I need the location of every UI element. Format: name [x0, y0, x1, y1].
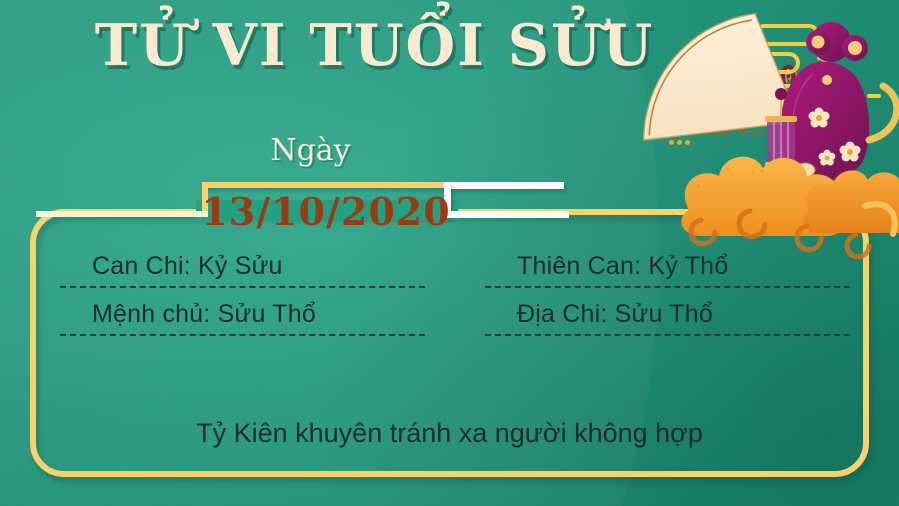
year-badge: 2020: [717, 60, 800, 96]
info-grid: Can Chi: Kỷ Sửu Thiên Can: Kỷ Thổ Mệnh c…: [60, 240, 850, 336]
info-row-text: Mệnh chủ: Sửu Thổ: [92, 300, 316, 328]
info-row-text: Can Chi: Kỷ Sửu: [92, 252, 283, 280]
info-row-dia-chi: Địa Chi: Sửu Thổ: [485, 288, 850, 336]
brand-tagline: Đón lành - Tránh dữ: [691, 128, 777, 138]
brand-logo-ngay: ngày: [707, 100, 747, 124]
zodiac-horoscope-card: 2020 LịchngàyTỐT.com Đón lành - Tránh dữ…: [0, 0, 899, 506]
advice-text: Tỷ Kiên khuyên tránh xa người không hợp: [30, 418, 869, 449]
date-value: 13/10/2020: [208, 186, 444, 236]
date-notch-base-gold: [36, 211, 208, 217]
brand-dots-icon: [669, 130, 693, 149]
info-row-text: Thiên Can: Kỷ Thổ: [517, 252, 728, 280]
date-notch-base-white: [451, 211, 569, 218]
date-notch-top-white: [444, 182, 564, 189]
brand-logo-lich: Lịch: [669, 100, 707, 124]
info-row-text: Địa Chi: Sửu Thổ: [517, 300, 713, 328]
info-row-thien-can: Thiên Can: Kỷ Thổ: [485, 240, 850, 288]
fan-logo-group: 2020 LịchngàyTỐT.com Đón lành - Tránh dữ: [647, 36, 877, 196]
yin-yang-icon: [781, 102, 803, 124]
info-row-can-chi: Can Chi: Kỷ Sửu: [60, 240, 425, 288]
info-row-menh-chu: Mệnh chủ: Sửu Thổ: [60, 288, 425, 336]
